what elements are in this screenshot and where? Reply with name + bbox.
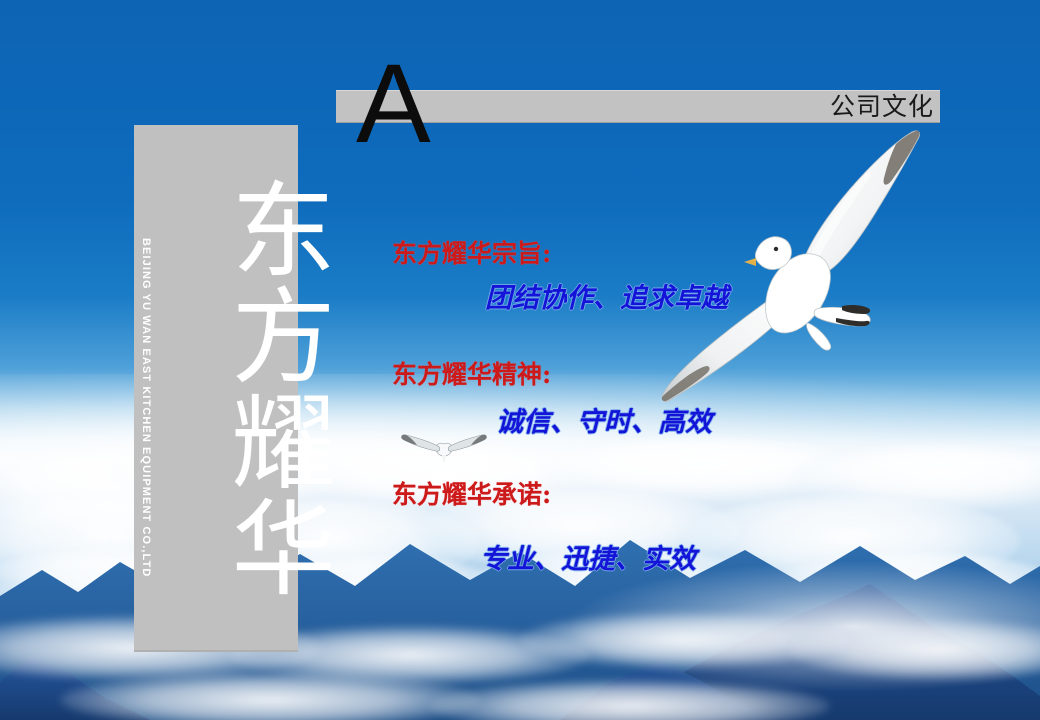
company-name-english: BEIJING YU WAN EAST KITCHEN EQUIPMENT CO… [140,238,152,658]
culture-block-promise: 东方耀华承诺: 专业、迅捷、实效 [392,481,696,574]
slide-canvas: BEIJING YU WAN EAST KITCHEN EQUIPMENT CO… [0,0,1040,720]
culture-value: 专业、迅捷、实效 [480,545,696,575]
culture-value: 团结协作、追求卓越 [485,284,728,314]
culture-heading: 东方耀华承诺: [392,481,696,509]
culture-value: 诚信、守时、高效 [496,408,712,438]
page-title: 公司文化 [830,94,934,119]
mist-glow [572,562,1040,692]
mist-band [60,672,480,720]
culture-heading: 东方耀华精神: [392,361,712,389]
company-name-chinese: 东方耀华 [206,176,324,600]
culture-heading: 东方耀华宗旨: [392,240,728,268]
culture-block-purpose: 东方耀华宗旨: 团结协作、追求卓越 [392,240,728,313]
section-letter: A [356,48,431,160]
culture-block-spirit: 东方耀华精神: 诚信、守时、高效 [392,361,712,437]
